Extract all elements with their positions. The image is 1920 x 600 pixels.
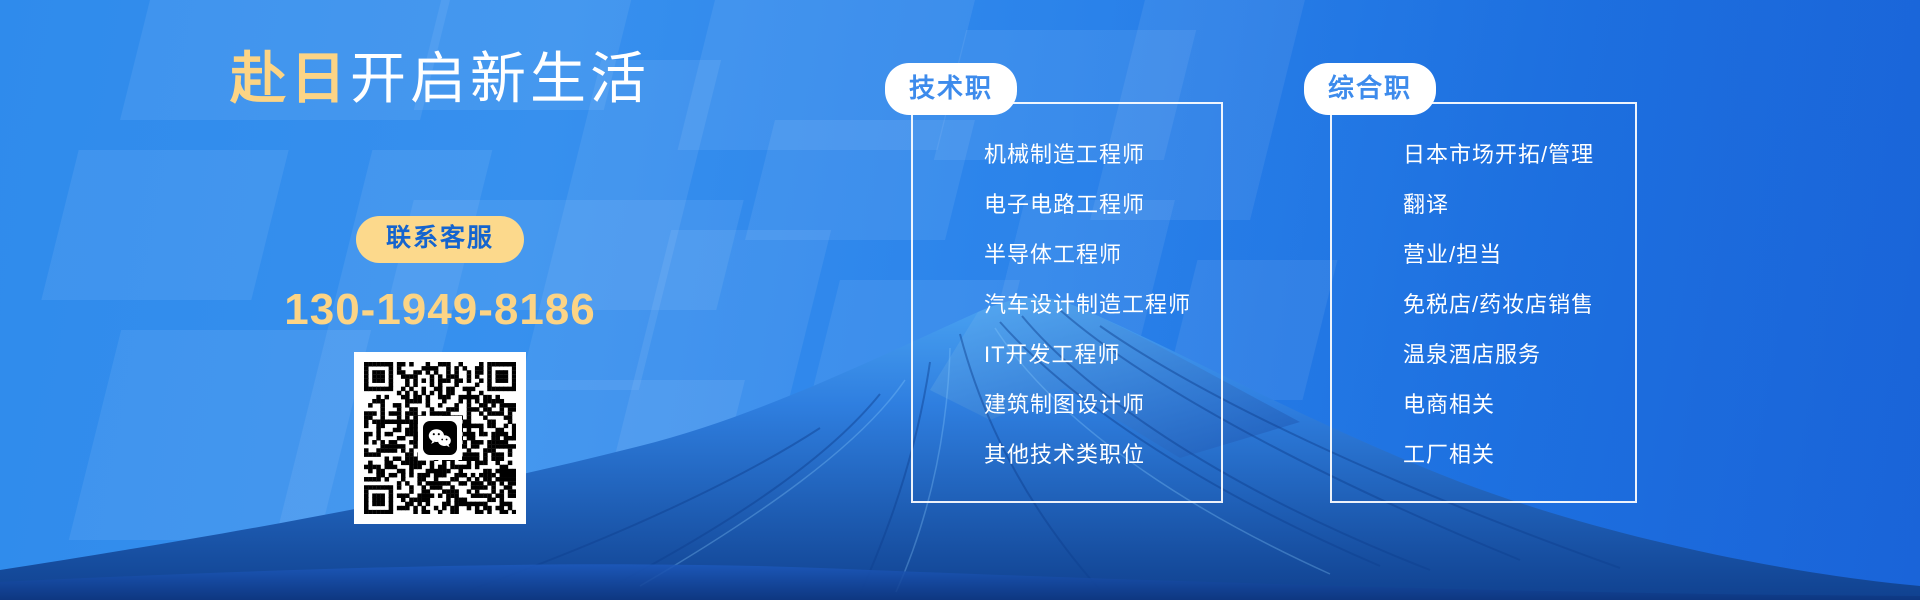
list-item[interactable]: 营业/担当 [1403, 230, 1594, 280]
job-list-technical: 机械制造工程师 电子电路工程师 半导体工程师 汽车设计制造工程师 IT开发工程师… [944, 130, 1191, 480]
list-item[interactable]: IT开发工程师 [984, 330, 1191, 380]
job-list-general: 日本市场开拓/管理 翻译 营业/担当 免税店/药妆店销售 温泉酒店服务 电商相关… [1363, 130, 1594, 480]
list-item[interactable]: 电商相关 [1403, 380, 1594, 430]
contact-customer-service-button[interactable]: 联系客服 [356, 216, 524, 263]
list-item[interactable]: 电子电路工程师 [984, 180, 1191, 230]
headline-rest: 开启新生活 [350, 47, 650, 110]
page-title: 赴日开启新生活 [0, 46, 880, 112]
wechat-icon [423, 421, 457, 455]
job-panel-technical: 机械制造工程师 电子电路工程师 半导体工程师 汽车设计制造工程师 IT开发工程师… [911, 102, 1223, 503]
headline-accent: 赴日 [230, 47, 350, 110]
wechat-qr-code[interactable] [354, 352, 526, 524]
list-item[interactable]: 日本市场开拓/管理 [1403, 130, 1594, 180]
list-item[interactable]: 机械制造工程师 [984, 130, 1191, 180]
list-item[interactable]: 汽车设计制造工程师 [984, 280, 1191, 330]
promo-banner: 赴日开启新生活 联系客服 130-1949-8186 [0, 0, 1920, 600]
list-item[interactable]: 其他技术类职位 [984, 430, 1191, 480]
list-item[interactable]: 翻译 [1403, 180, 1594, 230]
list-item[interactable]: 免税店/药妆店销售 [1403, 280, 1594, 330]
job-panel-general: 日本市场开拓/管理 翻译 营业/担当 免税店/药妆店销售 温泉酒店服务 电商相关… [1330, 102, 1637, 503]
left-contact-column: 赴日开启新生活 联系客服 130-1949-8186 [0, 0, 880, 600]
list-item[interactable]: 建筑制图设计师 [984, 380, 1191, 430]
list-item[interactable]: 半导体工程师 [984, 230, 1191, 280]
panel-badge-general: 综合职 [1304, 63, 1436, 115]
list-item[interactable]: 温泉酒店服务 [1403, 330, 1594, 380]
list-item[interactable]: 工厂相关 [1403, 430, 1594, 480]
phone-number[interactable]: 130-1949-8186 [0, 285, 880, 335]
panel-badge-technical: 技术职 [885, 63, 1017, 115]
